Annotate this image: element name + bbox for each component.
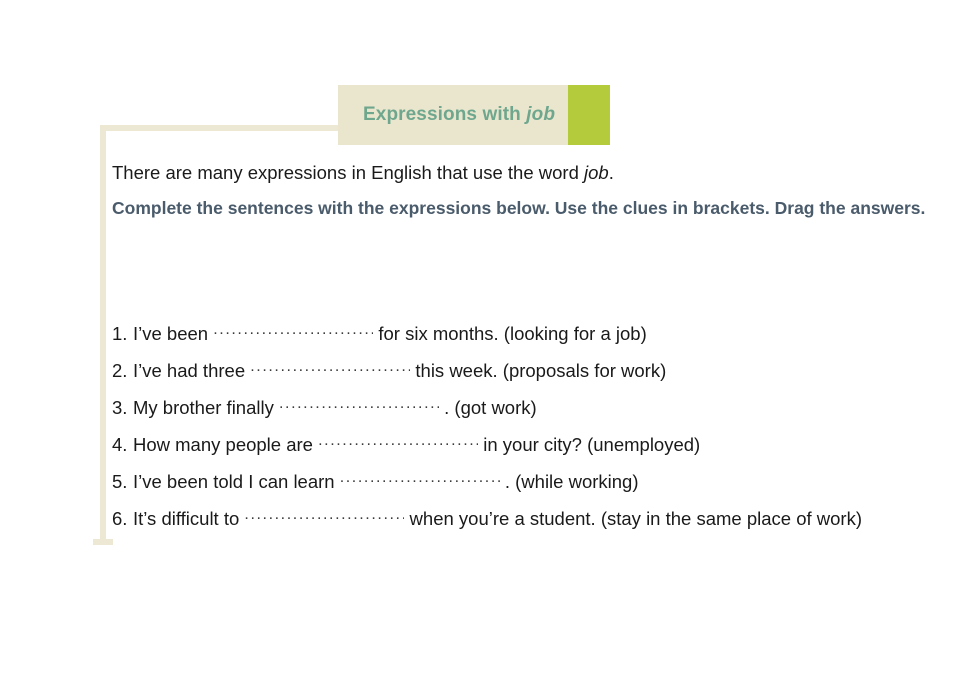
instruction-paragraph: Complete the sentences with the expressi… (112, 198, 925, 219)
bracket-foot-rule (93, 539, 113, 545)
section-header-banner: Expressions with job (338, 85, 610, 145)
exercise-item-text-before: I’ve been told I can learn (133, 471, 340, 492)
bracket-vertical-rule (100, 125, 106, 545)
intro-text-emphasis: job (584, 162, 609, 183)
intro-text-before: There are many expressions in English th… (112, 162, 584, 183)
exercise-item: 4.How many people are ..................… (112, 433, 932, 470)
exercise-item-body: I’ve had three .........................… (133, 359, 932, 382)
exercise-item-number: 4. (112, 434, 133, 456)
exercise-answer-blank[interactable]: ...................................... (279, 395, 439, 413)
exercise-answer-blank[interactable]: ...................................... (340, 469, 500, 487)
exercise-item-text-before: I’ve been (133, 323, 213, 344)
exercise-item-number: 1. (112, 323, 133, 345)
page-title: Expressions with job (363, 104, 555, 126)
exercise-item-text-before: It’s difficult to (133, 508, 244, 529)
exercise-item: 5.I’ve been told I can learn ...........… (112, 470, 932, 507)
exercise-answer-blank[interactable]: ...................................... (244, 506, 404, 524)
exercise-item-text-after: for six months. (looking for a job) (373, 323, 647, 344)
exercise-item-text-after: when you’re a student. (stay in the same… (404, 508, 862, 529)
exercise-item-body: How many people are ....................… (133, 433, 932, 456)
exercise-item: 2.I’ve had three .......................… (112, 359, 932, 396)
exercise-item-text-after: . (got work) (439, 397, 537, 418)
exercise-item-body: My brother finally .....................… (133, 396, 932, 419)
exercise-item-number: 5. (112, 471, 133, 493)
exercise-item-text-before: My brother finally (133, 397, 279, 418)
exercise-item-text-after: . (while working) (500, 471, 639, 492)
exercise-item-text-before: I’ve had three (133, 360, 250, 381)
exercise-item-text-after: in your city? (unemployed) (478, 434, 700, 455)
exercise-item-text-after: this week. (proposals for work) (410, 360, 666, 381)
intro-paragraph: There are many expressions in English th… (112, 162, 614, 184)
exercise-item-body: I’ve been told I can learn .............… (133, 470, 932, 493)
header-banner-body: Expressions with job (338, 85, 568, 145)
exercise-item-number: 6. (112, 508, 133, 530)
exercise-item-body: It’s difficult to ......................… (133, 507, 932, 530)
exercise-item-number: 2. (112, 360, 133, 382)
exercise-item: 6.It’s difficult to ....................… (112, 507, 932, 544)
exercise-item: 3.My brother finally ...................… (112, 396, 932, 433)
exercise-list: 1.I’ve been ............................… (112, 322, 932, 544)
exercise-item-number: 3. (112, 397, 133, 419)
exercise-answer-blank[interactable]: ...................................... (213, 321, 373, 339)
intro-text-after: . (609, 162, 614, 183)
page-title-emphasis: job (526, 104, 555, 125)
exercise-item-body: I’ve been ..............................… (133, 322, 932, 345)
page-title-prefix: Expressions with (363, 104, 526, 125)
exercise-answer-blank[interactable]: ...................................... (318, 432, 478, 450)
header-banner-accent-block (568, 85, 610, 145)
exercise-item-text-before: How many people are (133, 434, 318, 455)
exercise-answer-blank[interactable]: ...................................... (250, 358, 410, 376)
exercise-item: 1.I’ve been ............................… (112, 322, 932, 359)
bracket-horizontal-rule (100, 125, 345, 131)
